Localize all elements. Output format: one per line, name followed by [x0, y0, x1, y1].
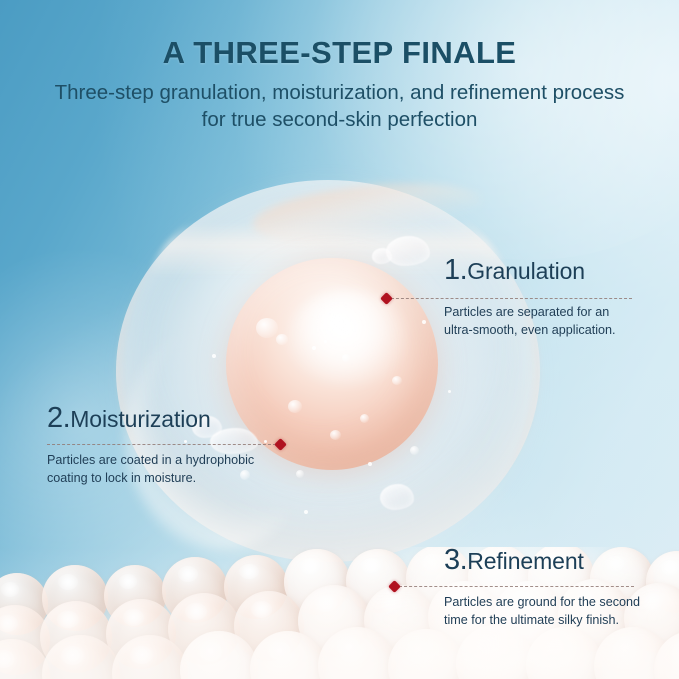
pearl-bead — [224, 555, 288, 619]
micro-sparkle — [448, 390, 451, 393]
sparkle — [288, 400, 302, 413]
callout-3-title: Refinement — [467, 548, 584, 574]
header-block: A THREE-STEP FINALE Three-step granulati… — [0, 36, 679, 134]
sparkle — [410, 446, 419, 455]
glass-blob-bottom — [380, 484, 414, 510]
page-title: A THREE-STEP FINALE — [0, 36, 679, 69]
pearl-bead — [168, 593, 240, 665]
pearl-bead — [0, 639, 50, 679]
sparkle — [296, 470, 304, 478]
callout-step-2: 2.Moisturization Particles are coated in… — [47, 404, 259, 488]
micro-sparkle — [368, 462, 372, 466]
pearl-bead — [298, 585, 370, 657]
sparkle — [360, 414, 369, 423]
pearl-bead — [180, 631, 258, 679]
pearl-bead — [106, 599, 176, 669]
micro-sparkle — [324, 340, 327, 343]
pearl-bead — [456, 625, 534, 679]
micro-sparkle — [212, 354, 216, 358]
micro-sparkle — [304, 510, 308, 514]
sparkle — [256, 318, 278, 338]
callout-2-number: 2. — [47, 402, 70, 434]
callout-2-leader-line — [47, 444, 276, 445]
pearl-bead — [234, 591, 304, 661]
callout-3-leader — [390, 580, 634, 592]
outer-bubble — [116, 180, 540, 562]
glass-blob-upper-small — [372, 248, 392, 264]
pearl-bead — [0, 573, 48, 635]
callout-1-leader-line — [391, 298, 632, 299]
pearl-bead — [388, 629, 464, 679]
callout-1-leader — [382, 292, 632, 304]
pearl-bead — [250, 631, 326, 679]
micro-sparkle — [312, 346, 316, 350]
callout-3-heading: 3.Refinement — [444, 546, 640, 575]
sparkle — [276, 334, 288, 345]
pearl-bead — [42, 635, 120, 679]
pearl-bead — [162, 557, 228, 623]
poster-canvas: A THREE-STEP FINALE Three-step granulati… — [0, 0, 679, 679]
callout-3-body: Particles are ground for the second time… — [444, 594, 640, 630]
sparkle — [330, 430, 341, 440]
bubble-shadow — [120, 186, 538, 562]
sparkle — [342, 354, 350, 362]
callout-1-heading: 1.Granulation — [444, 256, 636, 285]
pearl-bead — [40, 601, 112, 673]
sparkle — [392, 376, 402, 385]
callout-1-number: 1. — [444, 254, 467, 286]
bubble-top-arc-accent — [250, 174, 484, 252]
bubble-rim — [116, 180, 540, 562]
bubble-illustration — [92, 140, 562, 560]
pearl-bead — [0, 605, 50, 675]
step-marker-dot-icon — [388, 580, 401, 593]
callout-2-title: Moisturization — [70, 406, 211, 432]
pearl-bead — [284, 549, 350, 615]
pearl-bead — [104, 565, 166, 627]
callout-step-3: 3.Refinement Particles are ground for th… — [444, 546, 640, 630]
callout-2-heading: 2.Moisturization — [47, 404, 259, 433]
callout-3-number: 3. — [444, 544, 467, 576]
callout-2-leader — [47, 438, 285, 450]
pearl-bead — [646, 551, 679, 613]
page-subtitle: Three-step granulation, moisturization, … — [0, 80, 679, 133]
callout-2-body: Particles are coated in a hydrophobic co… — [47, 452, 259, 488]
callout-step-1: 1.Granulation Particles are separated fo… — [444, 256, 636, 340]
pearl-bead — [654, 631, 679, 679]
callout-1-title: Granulation — [467, 258, 585, 284]
glass-blob-upper — [386, 236, 430, 266]
callout-3-leader-line — [399, 586, 634, 587]
pearl-bead — [594, 627, 672, 679]
pearl-bead — [112, 635, 188, 679]
pearl-bead — [318, 627, 396, 679]
step-marker-dot-icon — [380, 292, 393, 305]
micro-sparkle — [422, 320, 426, 324]
callout-1-body: Particles are separated for an ultra-smo… — [444, 304, 636, 340]
inner-pearl-highlight — [288, 290, 408, 386]
pearl-bead — [526, 627, 602, 679]
step-marker-dot-icon — [274, 438, 287, 451]
pearl-bead — [364, 585, 434, 655]
pearl-bead — [42, 565, 108, 631]
